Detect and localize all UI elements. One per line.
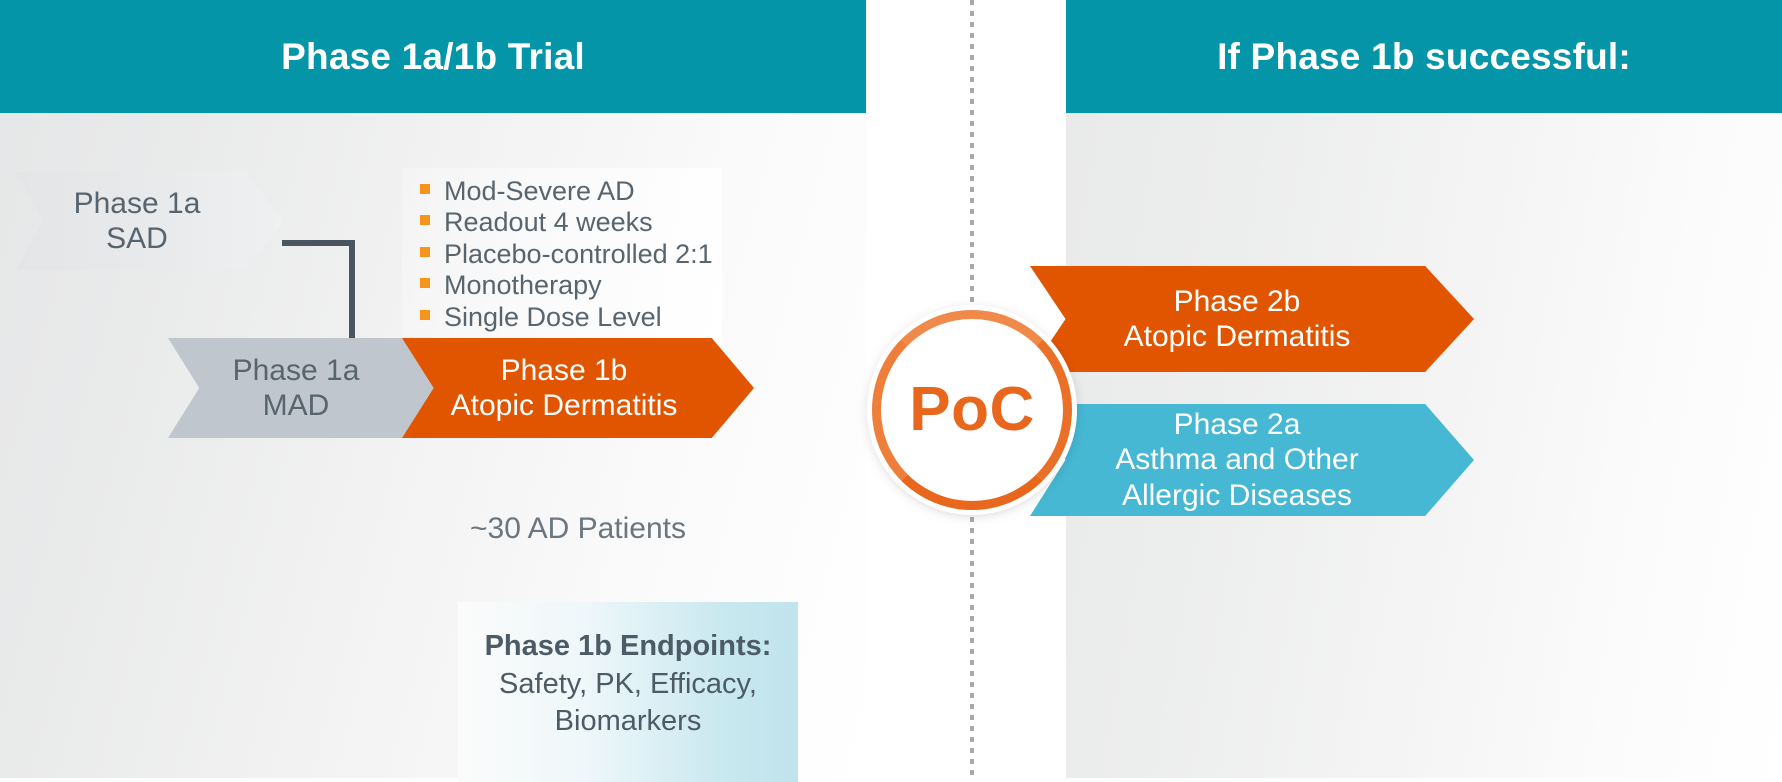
square-bullet-icon xyxy=(420,278,430,288)
bullet-text: Single Dose Level xyxy=(444,302,662,333)
left-panel-header: Phase 1a/1b Trial xyxy=(0,0,866,113)
phase-2a-line2: Asthma and Other xyxy=(1115,443,1358,476)
square-bullet-icon xyxy=(420,247,430,257)
poc-label: PoC xyxy=(909,379,1035,441)
phase-2b-line2: Atopic Dermatitis xyxy=(1124,320,1351,353)
phase-1a-mad-label: Phase 1aMAD xyxy=(233,353,360,424)
phase-1b-label: Phase 1bAtopic Dermatitis xyxy=(451,353,678,424)
list-item: Monotherapy xyxy=(420,270,722,301)
endpoints-title: Phase 1b Endpoints: xyxy=(472,628,784,666)
endpoints-line-2: Biomarkers xyxy=(472,703,784,740)
poc-milestone-badge[interactable]: PoC xyxy=(864,302,1080,518)
phase-2b-label: Phase 2bAtopic Dermatitis xyxy=(1124,284,1351,355)
phase-1b-design-bullets: Mod-Severe AD Readout 4 weeks Placebo-co… xyxy=(402,168,722,344)
phase-2b-chevron[interactable]: Phase 2bAtopic Dermatitis xyxy=(1030,266,1474,372)
right-panel-title: If Phase 1b successful: xyxy=(1217,36,1631,78)
list-item: Readout 4 weeks xyxy=(420,207,722,238)
list-item: Placebo-controlled 2:1 xyxy=(420,239,722,270)
phase-1a-sad-line2: SAD xyxy=(106,222,168,255)
bullet-text: Monotherapy xyxy=(444,270,602,301)
list-item: Mod-Severe AD xyxy=(420,176,722,207)
square-bullet-icon xyxy=(420,310,430,320)
phase-1a-mad-line2: MAD xyxy=(263,389,330,422)
square-bullet-icon xyxy=(420,215,430,225)
poc-ring: PoC xyxy=(872,310,1072,510)
phase-1b-line2: Atopic Dermatitis xyxy=(451,389,678,422)
patients-count-note: ~30 AD Patients xyxy=(402,512,754,546)
phase-1b-chevron[interactable]: Phase 1bAtopic Dermatitis xyxy=(402,338,754,438)
phase-1a-mad-chevron[interactable]: Phase 1aMAD xyxy=(168,338,452,438)
phase-2a-line3: Allergic Diseases xyxy=(1122,479,1352,512)
bullet-list: Mod-Severe AD Readout 4 weeks Placebo-co… xyxy=(420,176,722,333)
left-panel: Phase 1a/1b Trial Phase 1aSAD Mod-Severe… xyxy=(0,0,866,778)
left-panel-title: Phase 1a/1b Trial xyxy=(281,36,585,78)
phase-2a-chevron[interactable]: Phase 2aAsthma and OtherAllergic Disease… xyxy=(1030,404,1474,516)
phase-1b-line1: Phase 1b xyxy=(501,354,628,387)
phase-1a-sad-label: Phase 1aSAD xyxy=(74,186,201,257)
phase-2a-line1: Phase 2a xyxy=(1174,408,1301,441)
phase-2b-line1: Phase 2b xyxy=(1174,285,1301,318)
phase-1b-endpoints-box: Phase 1b Endpoints: Safety, PK, Efficacy… xyxy=(458,602,798,782)
bullet-text: Mod-Severe AD xyxy=(444,176,635,207)
right-panel: If Phase 1b successful: xyxy=(1066,0,1782,778)
phase-1a-sad-line1: Phase 1a xyxy=(74,187,201,220)
phase-2a-label: Phase 2aAsthma and OtherAllergic Disease… xyxy=(1115,407,1358,513)
square-bullet-icon xyxy=(420,184,430,194)
slide-canvas: Phase 1a/1b Trial Phase 1aSAD Mod-Severe… xyxy=(0,0,1782,778)
list-item: Single Dose Level xyxy=(420,302,722,333)
right-panel-header: If Phase 1b successful: xyxy=(1066,0,1782,113)
endpoints-line-1: Safety, PK, Efficacy, xyxy=(472,666,784,703)
bullet-text: Placebo-controlled 2:1 xyxy=(444,239,713,270)
phase-1a-mad-line1: Phase 1a xyxy=(233,354,360,387)
bullet-text: Readout 4 weeks xyxy=(444,207,653,238)
phase-1a-sad-chevron[interactable]: Phase 1aSAD xyxy=(16,172,284,270)
